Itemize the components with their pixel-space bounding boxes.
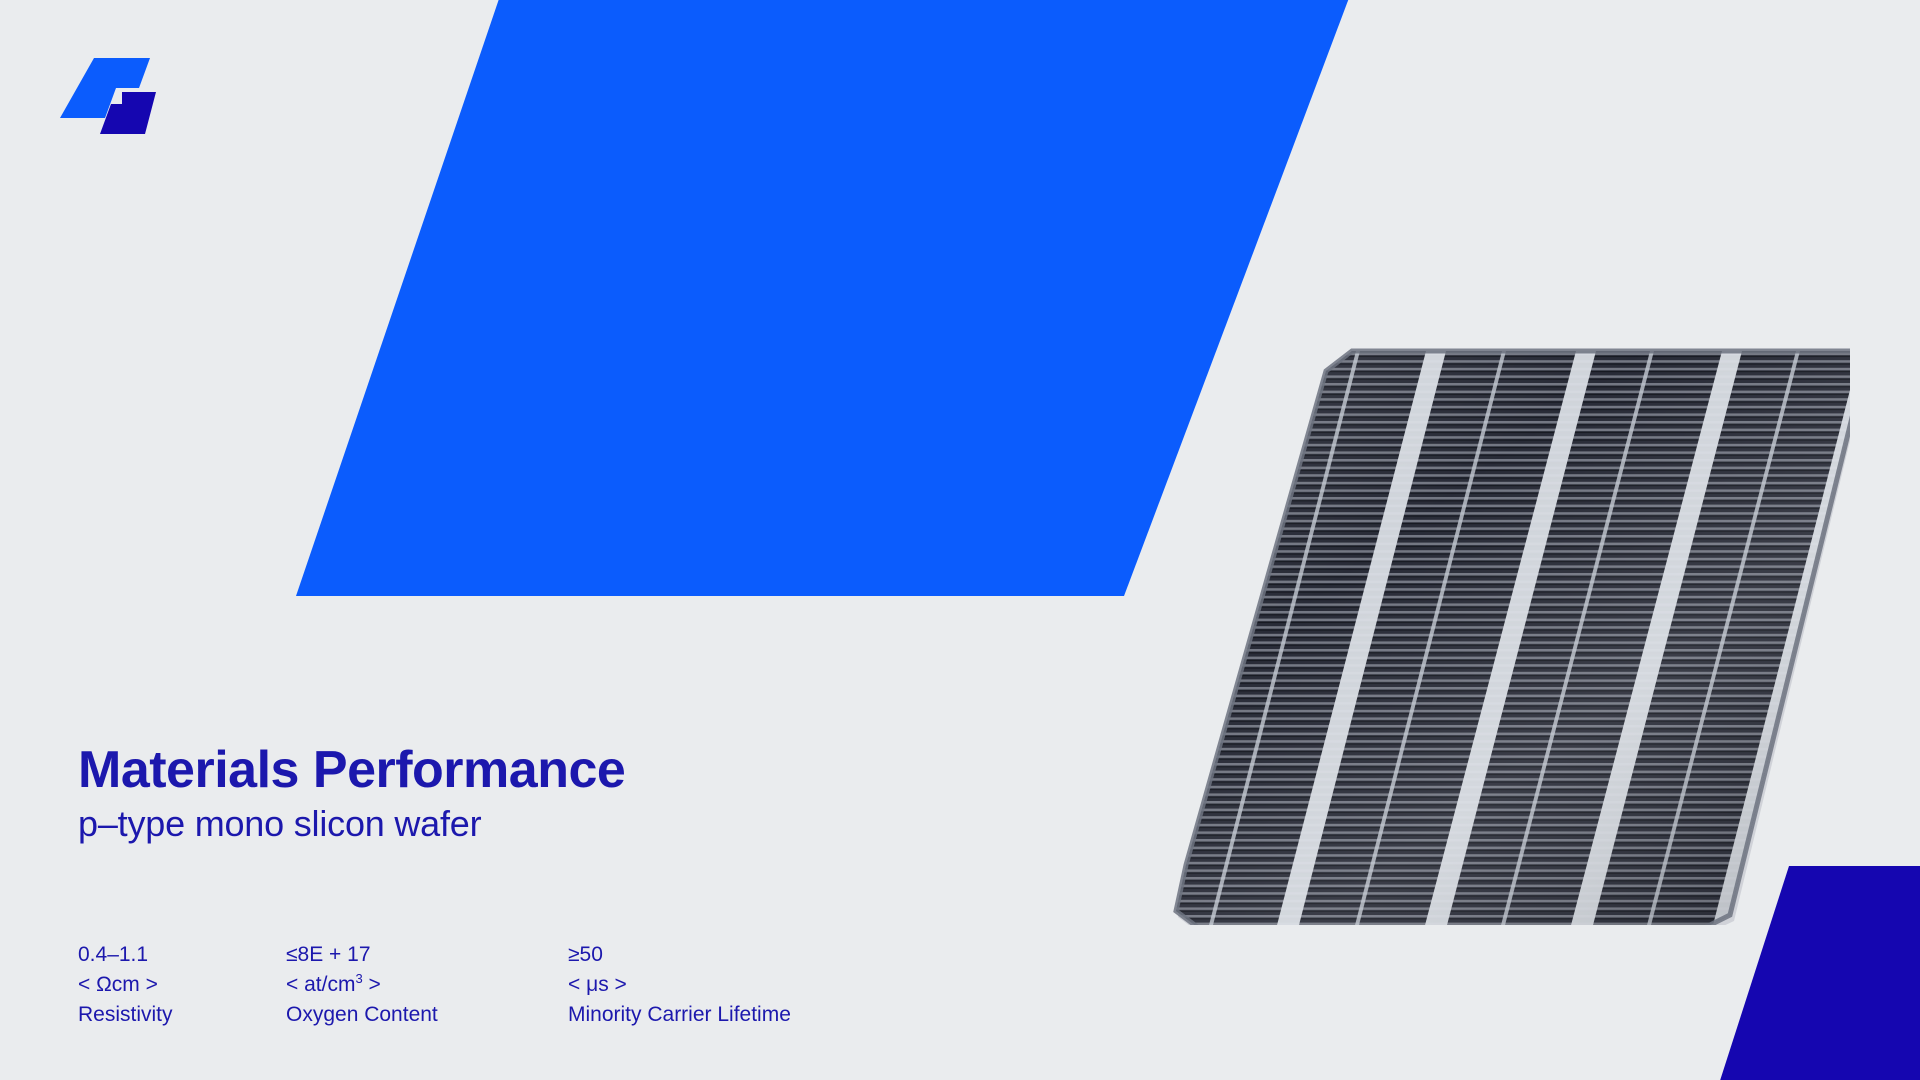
stat-minority-carrier-lifetime: ≥50 < μs > Minority Carrier Lifetime — [568, 940, 791, 1029]
stat-label: Minority Carrier Lifetime — [568, 1000, 791, 1030]
stat-label: Oxygen Content — [286, 1000, 568, 1030]
stat-value: ≤8E + 17 — [286, 940, 568, 970]
page-title: Materials Performance — [78, 742, 978, 798]
corner-deep-blue-parallelogram — [1717, 866, 1920, 1080]
stat-unit-prefix: < — [568, 973, 586, 996]
stat-unit-suffix: > — [363, 973, 381, 996]
stat-unit-text: Ωcm — [96, 973, 140, 996]
stat-unit: < μs > — [568, 970, 791, 1000]
stat-value: ≥50 — [568, 940, 791, 970]
spec-stats: 0.4–1.1 < Ωcm > Resistivity ≤8E + 17 < a… — [78, 940, 791, 1029]
stat-unit: < at/cm3 > — [286, 970, 568, 1000]
stat-unit: < Ωcm > — [78, 970, 286, 1000]
page-subtitle: p–type mono slicon wafer — [78, 804, 978, 844]
stat-oxygen-content: ≤8E + 17 < at/cm3 > Oxygen Content — [286, 940, 568, 1029]
background-shape-layer — [0, 0, 1920, 1080]
stat-unit-prefix: < — [286, 973, 304, 996]
stat-value: 0.4–1.1 — [78, 940, 286, 970]
background-shapes-svg — [0, 0, 1920, 1080]
stat-unit-prefix: < — [78, 973, 96, 996]
brand-logo[interactable] — [60, 58, 156, 134]
hero-blue-parallelogram — [296, 0, 1352, 596]
headline-block: Materials Performance p–type mono slicon… — [78, 742, 978, 844]
slide-root: { "theme": { "background": "#eaecee", "a… — [0, 0, 1920, 1080]
stat-label: Resistivity — [78, 1000, 286, 1030]
stat-unit-text: μs — [586, 973, 609, 996]
stat-unit-suffix: > — [609, 973, 627, 996]
stat-unit-exponent: 3 — [355, 971, 362, 986]
brand-logo-mark — [60, 58, 156, 134]
stat-resistivity: 0.4–1.1 < Ωcm > Resistivity — [78, 940, 286, 1029]
stat-unit-suffix: > — [140, 973, 158, 996]
stat-unit-text: at/cm — [304, 973, 355, 996]
